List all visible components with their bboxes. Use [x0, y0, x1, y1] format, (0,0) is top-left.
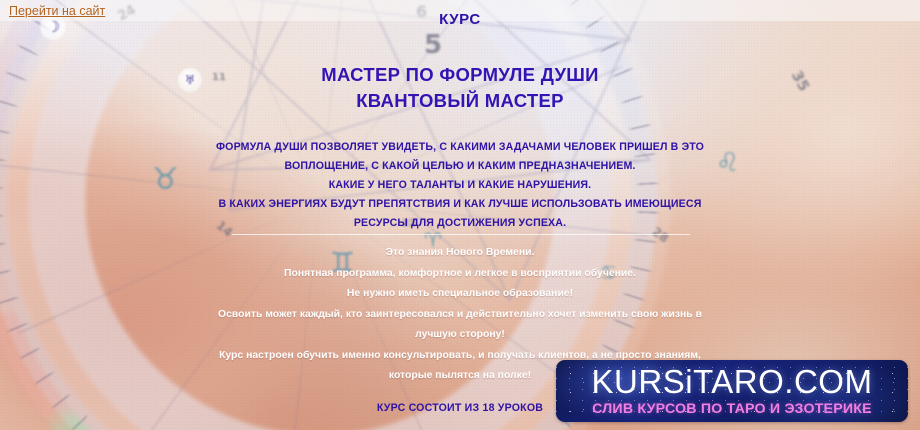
- body-line-4: Освоить может каждый, кто заинтересовалс…: [150, 305, 770, 326]
- watermark-banner: KURSiTARO.COM СЛИВ КУРСОВ ПО ТАРО И ЭЗОТ…: [556, 360, 908, 422]
- watermark-site-title: KURSiTARO.COM: [556, 363, 908, 401]
- page-title-line-1: МАСТЕР ПО ФОРМУЛЕ ДУШИ: [0, 62, 920, 88]
- lead-line-1: ФОРМУЛА ДУШИ ПОЗВОЛЯЕТ УВИДЕТЬ, С КАКИМИ…: [140, 138, 780, 157]
- eyebrow-kurs: КУРС: [0, 11, 920, 28]
- lead-line-4: В КАКИХ ЭНЕРГИЯХ БУДУТ ПРЕПЯТСТВИЯ И КАК…: [140, 195, 780, 214]
- page-title: МАСТЕР ПО ФОРМУЛЕ ДУШИ КВАНТОВЫЙ МАСТЕР: [0, 62, 920, 114]
- body-line-5: лучшую сторону!: [150, 325, 770, 346]
- body-line-2: Понятная программа, комфортное и легкое …: [150, 264, 770, 285]
- section-divider: [232, 234, 690, 235]
- body-line-1: Это знания Нового Времени.: [150, 243, 770, 264]
- lead-line-2: ВОПЛОЩЕНИЕ, С КАКОЙ ЦЕЛЬЮ И КАКИМ ПРЕДНА…: [140, 157, 780, 176]
- lead-line-3: КАКИЕ У НЕГО ТАЛАНТЫ И КАКИЕ НАРУШЕНИЯ.: [140, 176, 780, 195]
- body-line-3: Не нужно иметь специальное образование!: [150, 284, 770, 305]
- page-title-line-2: КВАНТОВЫЙ МАСТЕР: [0, 88, 920, 114]
- lead-line-5: РЕСУРСЫ ДЛЯ ДОСТИЖЕНИЯ УСПЕХА.: [140, 214, 780, 233]
- banner-stage: ♉♌♊♈♋24113556142822☽♅ Перейти на сайт КУ…: [0, 0, 920, 430]
- watermark-site-subtitle: СЛИВ КУРСОВ ПО ТАРО И ЭЗОТЕРИКЕ: [556, 401, 908, 417]
- lead-paragraph: ФОРМУЛА ДУШИ ПОЗВОЛЯЕТ УВИДЕТЬ, С КАКИМИ…: [140, 138, 780, 233]
